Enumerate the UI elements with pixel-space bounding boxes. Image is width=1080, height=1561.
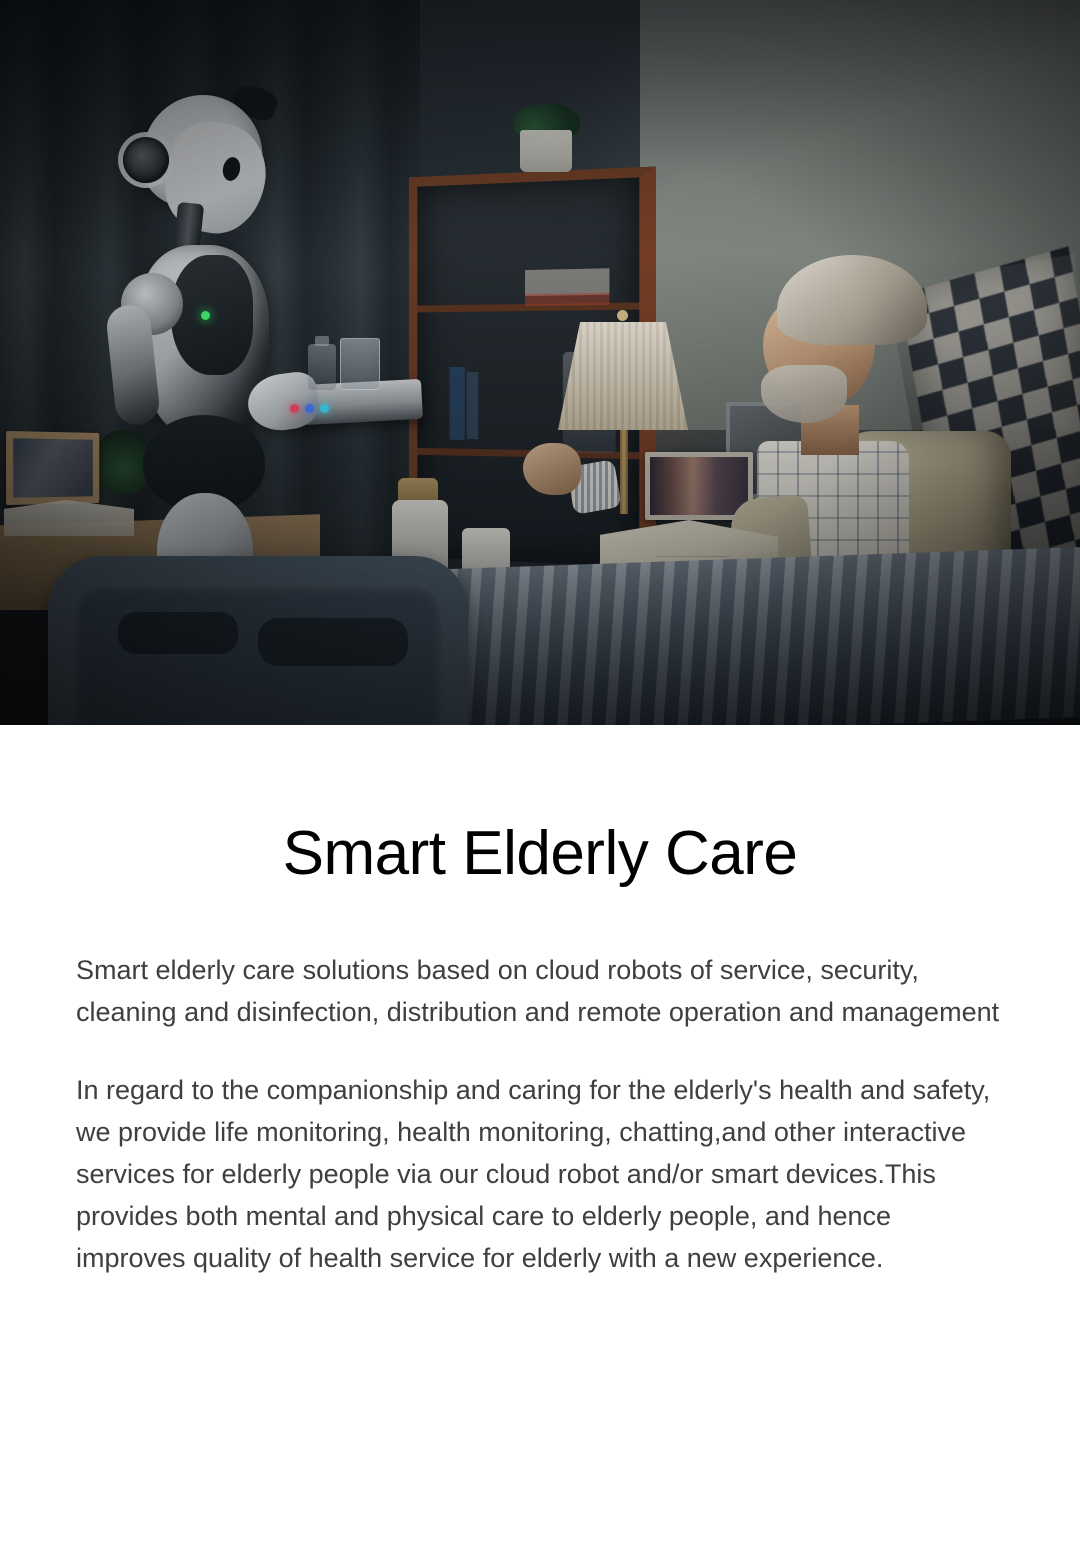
page-title: Smart Elderly Care	[76, 821, 1004, 887]
robot-status-led-icon	[201, 311, 210, 320]
lamp-shade	[558, 322, 688, 430]
hair	[777, 255, 927, 345]
paragraph-2: In regard to the companionship and carin…	[76, 1069, 1004, 1279]
article-content: Smart Elderly Care Smart elderly care so…	[0, 725, 1080, 1279]
bed-rail-slot	[118, 612, 238, 654]
water-glass	[340, 338, 380, 390]
tray-led-indicators	[290, 404, 336, 414]
lamp-finial	[617, 310, 628, 321]
potted-plant-pot	[520, 130, 572, 172]
led-blue-icon	[305, 404, 314, 413]
led-cyan-icon	[320, 404, 329, 413]
robot-chest-panel	[171, 255, 253, 375]
hero-image	[0, 0, 1080, 725]
robot-ear-module	[123, 137, 169, 183]
photo-frame	[6, 431, 99, 505]
bed-rail-slot	[258, 618, 408, 666]
book	[467, 372, 479, 439]
beard	[761, 365, 847, 423]
body-copy: Smart elderly care solutions based on cl…	[76, 949, 1004, 1279]
water-bottle	[308, 344, 336, 390]
led-red-icon	[290, 404, 299, 413]
hand	[523, 443, 581, 495]
book	[449, 367, 464, 440]
book-box	[525, 293, 609, 306]
paragraph-1: Smart elderly care solutions based on cl…	[76, 949, 1004, 1033]
service-robot	[105, 95, 335, 615]
